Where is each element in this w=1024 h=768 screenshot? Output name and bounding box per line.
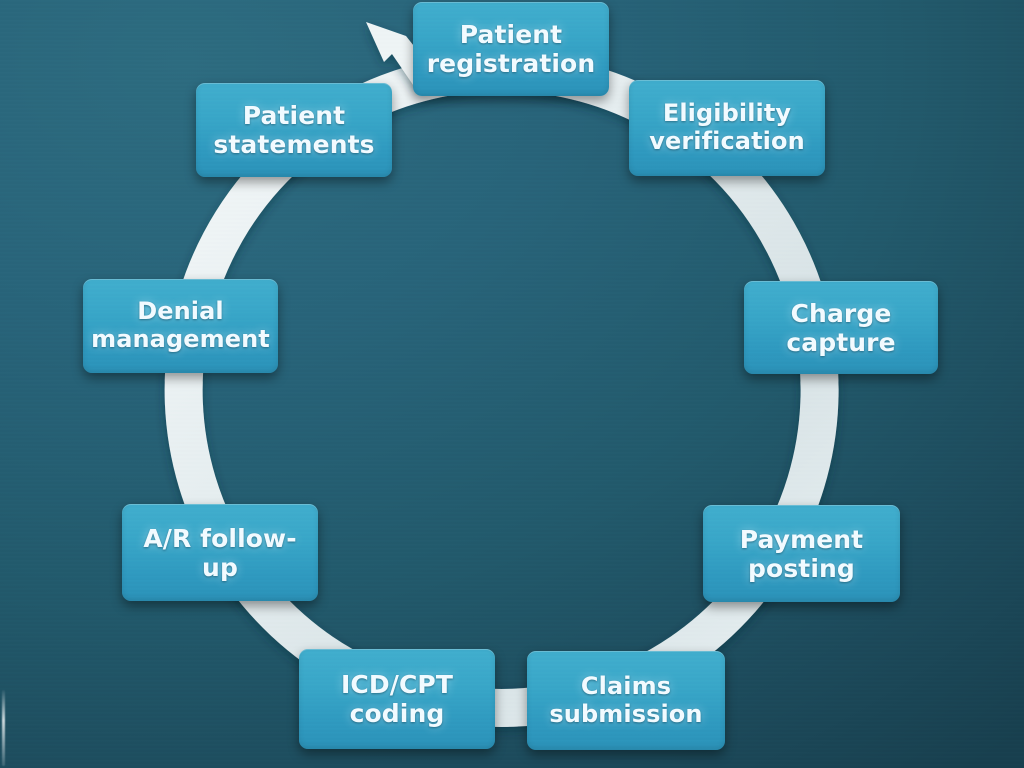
node-label-line1: Claims (549, 673, 702, 701)
node-label-line2: up (143, 553, 296, 582)
node-label-line1: Denial (91, 298, 270, 326)
diagram-canvas: Patient registration Eligibility verific… (0, 0, 1024, 768)
node-label-line2: registration (427, 49, 595, 78)
node-ar-follow-up[interactable]: A/R follow- up (122, 504, 318, 601)
node-patient-statements[interactable]: Patient statements (196, 83, 392, 177)
node-denial-management[interactable]: Denial management (83, 279, 278, 373)
node-icd-cpt-coding[interactable]: ICD/CPT coding (299, 649, 495, 749)
node-label-line1: ICD/CPT (341, 670, 453, 699)
node-label-line1: Payment (740, 525, 864, 554)
node-patient-registration[interactable]: Patient registration (413, 2, 609, 96)
node-label-line1: Eligibility (649, 100, 805, 128)
cycle-ring (0, 0, 1024, 768)
node-label-line2: management (91, 326, 270, 354)
node-label-line2: capture (786, 328, 895, 357)
node-label-line2: statements (213, 130, 374, 159)
node-claims-submission[interactable]: Claims submission (527, 651, 725, 750)
node-label-line1: Charge (786, 299, 895, 328)
node-label-line2: posting (740, 554, 864, 583)
node-label-line2: verification (649, 128, 805, 156)
node-label-line2: coding (341, 699, 453, 728)
node-label-line1: Patient (213, 101, 374, 130)
left-edge-artifact (2, 690, 5, 766)
node-eligibility-verification[interactable]: Eligibility verification (629, 80, 825, 176)
node-label-line1: Patient (427, 20, 595, 49)
node-label-line1: A/R follow- (143, 524, 296, 553)
node-label-line2: submission (549, 701, 702, 729)
node-charge-capture[interactable]: Charge capture (744, 281, 938, 374)
node-payment-posting[interactable]: Payment posting (703, 505, 900, 602)
